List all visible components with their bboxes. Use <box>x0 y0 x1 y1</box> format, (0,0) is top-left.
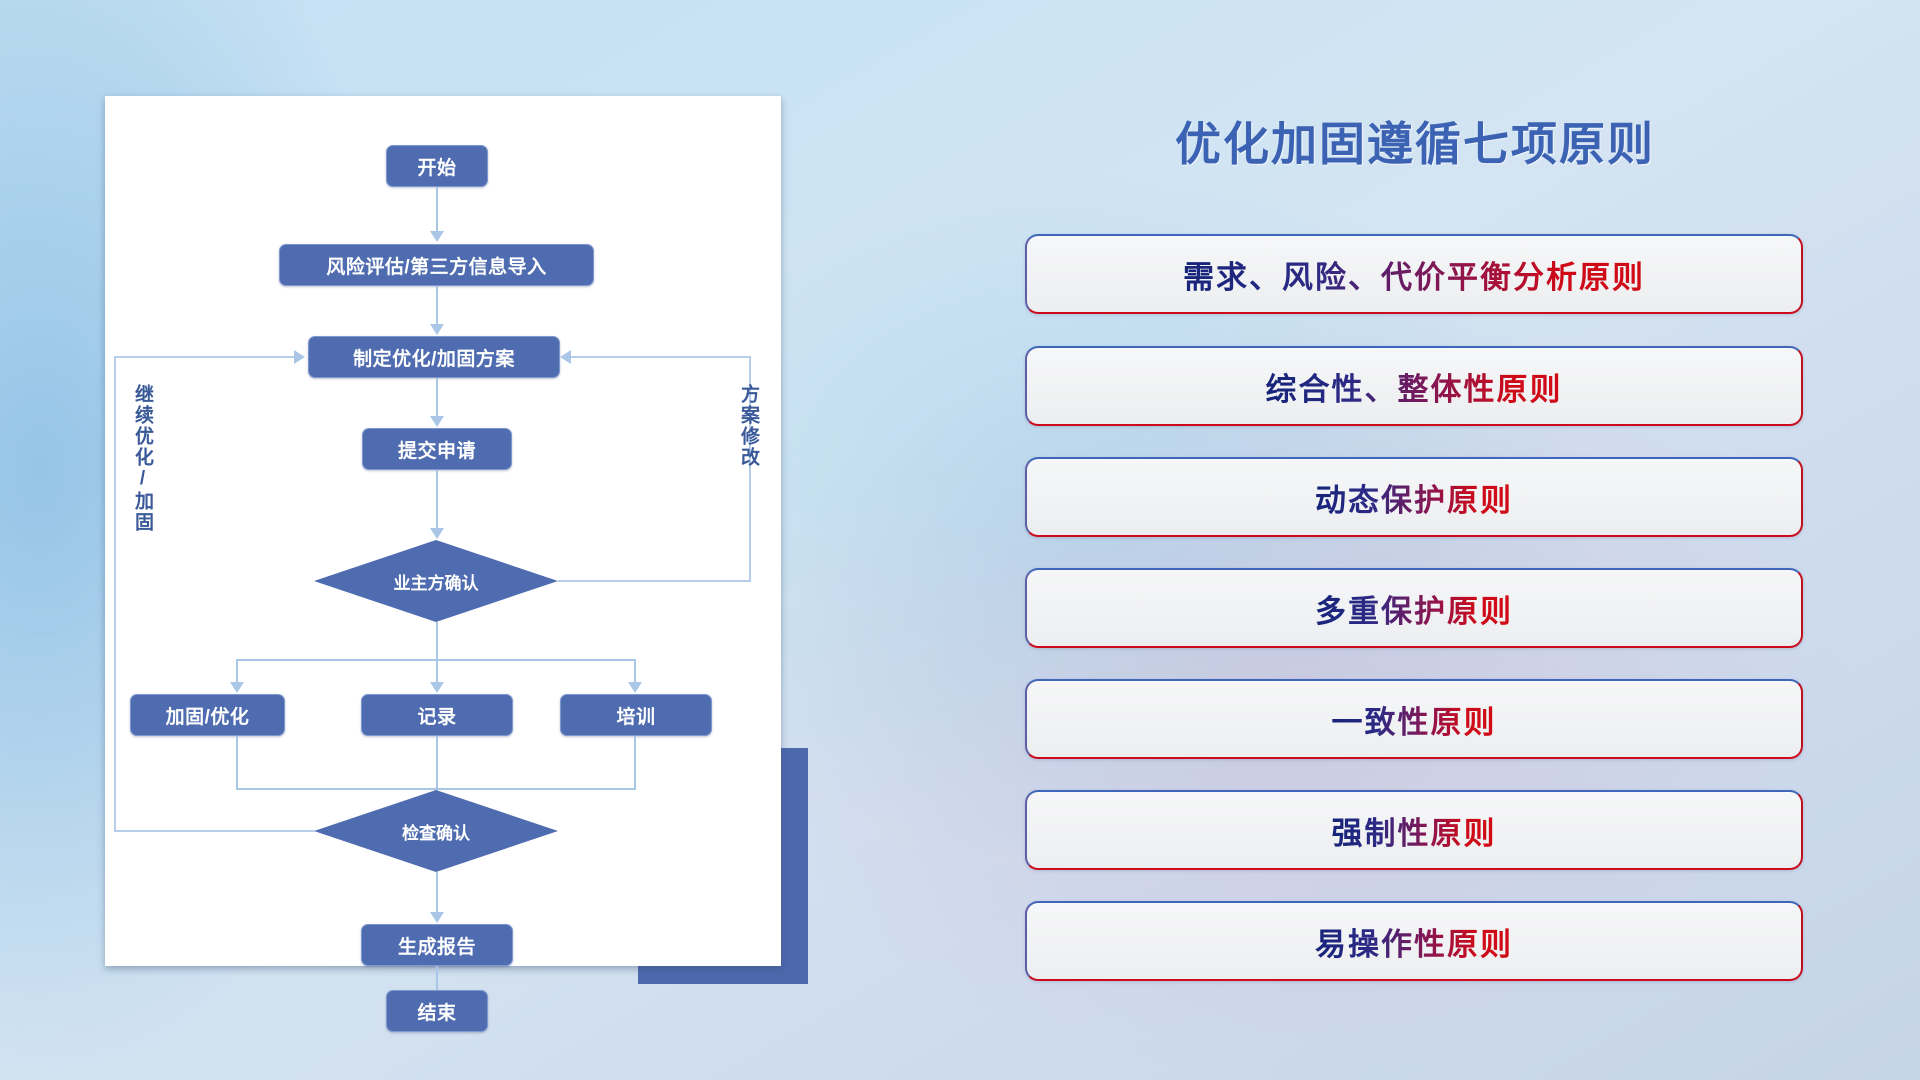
connector-left-to-plan <box>114 356 296 358</box>
flow-node-label: 业主方确认 <box>394 569 479 594</box>
connector-right-to-plan <box>571 356 751 358</box>
arrowhead-down-icon <box>628 682 642 693</box>
flow-node-label: 风险评估/第三方信息导入 <box>326 252 546 279</box>
connector-start-to-risk <box>436 187 438 235</box>
connector-plan-to-submit <box>436 378 438 420</box>
principle-label: 多重保护原则 <box>1315 586 1513 631</box>
flow-node-label: 加固/优化 <box>166 702 250 729</box>
arrowhead-down-icon <box>430 912 444 923</box>
connector-check-to-report <box>436 872 438 916</box>
arrowhead-down-icon <box>230 682 244 693</box>
principle-card-1[interactable]: 需求、风险、代价平衡分析原则 <box>1025 234 1803 314</box>
arrowhead-right-icon <box>294 350 305 364</box>
flow-decision-owner-confirm[interactable]: 业主方确认 <box>314 540 558 622</box>
flow-node-record[interactable]: 记录 <box>361 694 513 736</box>
connector-merge-left <box>236 736 238 790</box>
principle-card-5[interactable]: 一致性原则 <box>1025 679 1803 759</box>
flow-node-label: 结束 <box>417 998 456 1025</box>
arrowhead-left-icon <box>560 350 571 364</box>
flow-node-end[interactable]: 结束 <box>386 990 488 1032</box>
flowchart-card: 开始 风险评估/第三方信息导入 制定优化/加固方案 提交申请 业主方确认 <box>105 96 781 966</box>
principle-card-7[interactable]: 易操作性原则 <box>1025 901 1803 981</box>
flow-node-label: 检查确认 <box>402 819 470 844</box>
connector-merge-right <box>634 736 636 790</box>
principle-label: 易操作性原则 <box>1315 919 1513 964</box>
flow-node-label: 培训 <box>616 702 655 729</box>
principle-label: 综合性、整体性原则 <box>1266 364 1563 409</box>
connector-owner-down <box>436 622 438 660</box>
principle-label: 强制性原则 <box>1332 808 1497 853</box>
page-title: 优化加固遵循七项原则 <box>1025 108 1805 174</box>
connector-submit-to-owner <box>436 470 438 532</box>
arrowhead-down-icon <box>430 682 444 693</box>
flow-node-label: 制定优化/加固方案 <box>353 344 515 371</box>
principle-label: 一致性原则 <box>1332 697 1497 742</box>
connector-check-to-left <box>114 830 315 832</box>
flow-node-make-plan[interactable]: 制定优化/加固方案 <box>308 336 560 378</box>
connector-merge-mid <box>436 736 438 790</box>
arrowhead-down-icon <box>430 528 444 539</box>
principle-card-4[interactable]: 多重保护原则 <box>1025 568 1803 648</box>
flow-node-label: 生成报告 <box>398 932 476 959</box>
flow-node-label: 提交申请 <box>398 436 476 463</box>
arrowhead-down-icon <box>430 324 444 335</box>
slide-canvas: 开始 风险评估/第三方信息导入 制定优化/加固方案 提交申请 业主方确认 <box>0 0 1920 1080</box>
flow-node-submit-application[interactable]: 提交申请 <box>362 428 512 470</box>
flow-decision-check-confirm[interactable]: 检查确认 <box>314 790 558 872</box>
flow-node-generate-report[interactable]: 生成报告 <box>361 924 513 966</box>
flow-node-label: 记录 <box>417 702 456 729</box>
flow-node-start[interactable]: 开始 <box>386 145 488 187</box>
edge-label-continue-optimize: 继续优化/加固 <box>129 384 156 533</box>
principle-card-6[interactable]: 强制性原则 <box>1025 790 1803 870</box>
flow-node-risk-assessment[interactable]: 风险评估/第三方信息导入 <box>279 244 594 286</box>
principle-card-2[interactable]: 综合性、整体性原则 <box>1025 346 1803 426</box>
arrowhead-down-icon <box>430 416 444 427</box>
connector-owner-to-right <box>558 580 751 582</box>
connector-risk-to-plan <box>436 286 438 328</box>
principle-label: 需求、风险、代价平衡分析原则 <box>1183 252 1645 297</box>
flow-node-label: 开始 <box>417 153 456 180</box>
edge-label-plan-revision: 方案修改 <box>735 384 762 468</box>
principle-label: 动态保护原则 <box>1315 475 1513 520</box>
arrowhead-down-icon <box>430 231 444 242</box>
flow-node-training[interactable]: 培训 <box>560 694 712 736</box>
connector-left-riser <box>114 357 116 832</box>
flow-node-reinforce-optimize[interactable]: 加固/优化 <box>130 694 285 736</box>
principle-card-3[interactable]: 动态保护原则 <box>1025 457 1803 537</box>
